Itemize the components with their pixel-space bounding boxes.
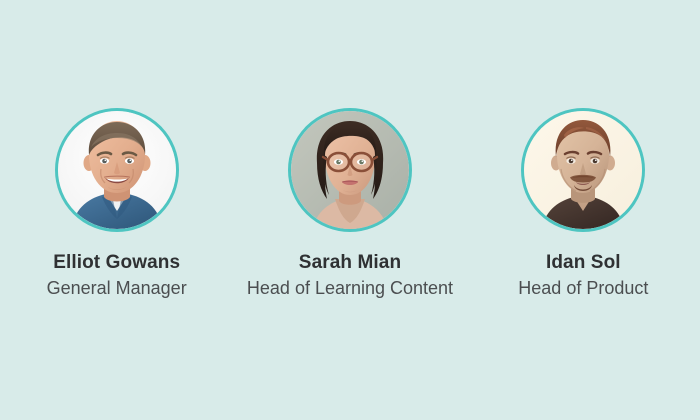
- avatar-image-clip: [291, 111, 409, 229]
- avatar: [521, 108, 645, 232]
- member-name: Idan Sol: [546, 252, 621, 274]
- avatar-image-clip: [58, 111, 176, 229]
- member-role: Head of Learning Content: [247, 277, 453, 299]
- avatar: [288, 108, 412, 232]
- avatar-image-clip: [524, 111, 642, 229]
- member-name: Sarah Mian: [299, 252, 401, 274]
- team-member-card[interactable]: Idan Sol Head of Product: [467, 108, 700, 299]
- avatar: [55, 108, 179, 232]
- portrait-photo-avatar-icon: [58, 111, 176, 229]
- team-member-card[interactable]: Elliot Gowans General Manager: [0, 108, 233, 299]
- team-member-list: Elliot Gowans General Manager: [0, 108, 700, 299]
- member-name: Elliot Gowans: [53, 252, 180, 274]
- team-member-card[interactable]: Sarah Mian Head of Learning Content: [233, 108, 466, 299]
- portrait-photo-avatar-icon: [524, 111, 642, 229]
- team-section: Elliot Gowans General Manager: [0, 0, 700, 420]
- member-role: General Manager: [47, 277, 187, 299]
- member-role: Head of Product: [518, 277, 648, 299]
- portrait-photo-avatar-icon: [291, 111, 409, 229]
